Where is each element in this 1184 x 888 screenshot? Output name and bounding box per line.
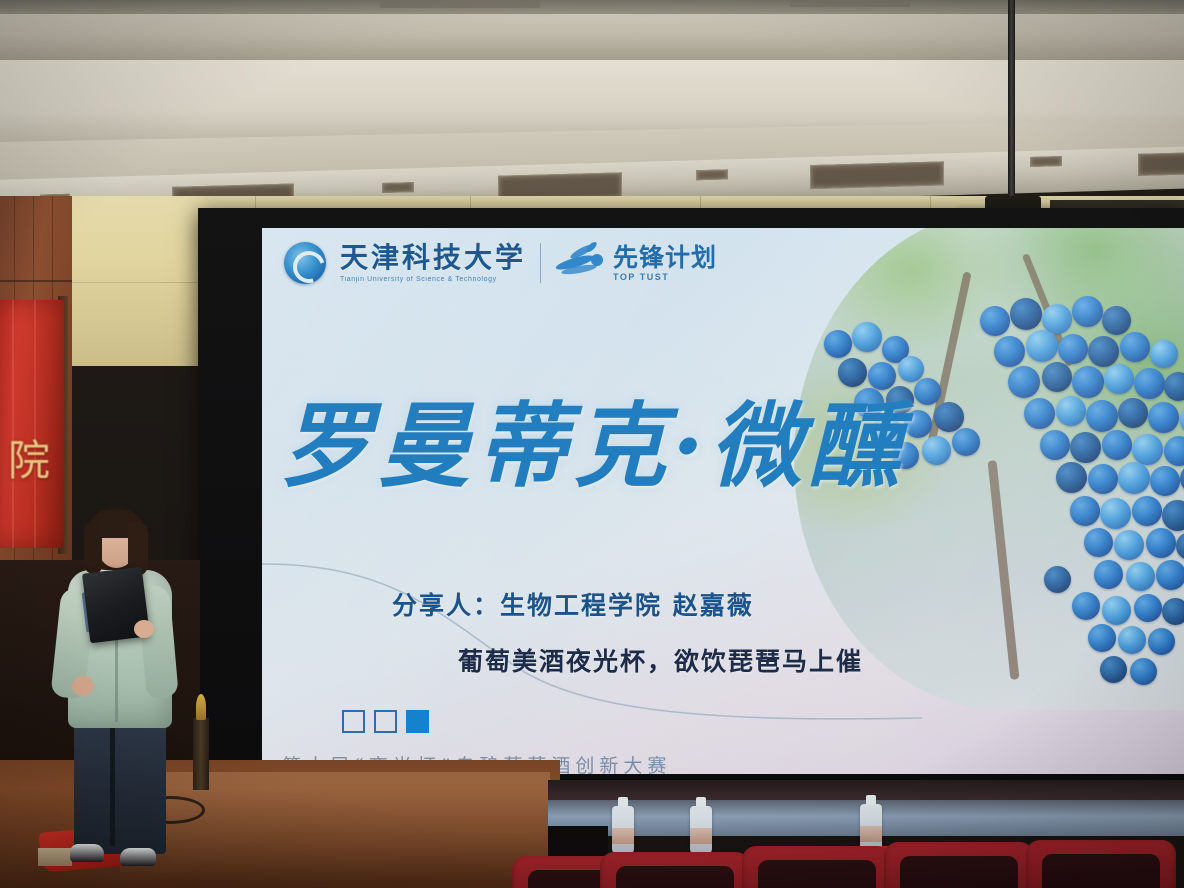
ceiling-vent (380, 0, 540, 8)
downlight (1138, 152, 1184, 176)
audience-seat (600, 852, 750, 888)
slide-header-logos: 天津科技大学 Tianjin University of Science & T… (284, 242, 717, 284)
program-logo-block: 先锋计划 TOP TUST (555, 244, 717, 282)
ceiling-shadow-strip (0, 0, 1184, 14)
university-name-cn: 天津科技大学 (340, 244, 526, 272)
ceiling-vent (790, 0, 910, 7)
program-name-en: TOP TUST (613, 273, 717, 282)
presenter-shoe-left (70, 844, 104, 862)
audience-seat (742, 846, 892, 888)
university-name-block: 天津科技大学 Tianjin University of Science & T… (340, 244, 526, 283)
banner-fold (34, 300, 36, 548)
phoenix-bird-icon (555, 244, 607, 282)
seat-inner (900, 856, 1018, 888)
wood-band (0, 280, 72, 282)
bottle-cap (866, 795, 876, 805)
audience-seat (884, 842, 1034, 888)
poem-line: 葡萄美酒夜光杯，欲饮琵琶马上催 (458, 642, 1098, 678)
bottle-cap (618, 797, 628, 807)
bottle-label (690, 828, 712, 844)
seat-inner (616, 866, 734, 888)
floor-reflection (120, 772, 550, 882)
program-name-block: 先锋计划 TOP TUST (613, 245, 717, 282)
projector-pole (1008, 0, 1015, 205)
water-bottle (612, 806, 634, 854)
red-banner (0, 300, 64, 548)
presenter-hand-left (72, 676, 94, 696)
presentation-slide: 天津科技大学 Tianjin University of Science & T… (262, 228, 1184, 774)
presenter-hair-left (84, 522, 102, 574)
bottle-label (860, 826, 882, 842)
banner-character: 院 (0, 440, 58, 482)
presenter-pants (74, 708, 166, 854)
flag-stand (193, 718, 209, 790)
page-marker-3-active (406, 710, 429, 733)
presenter-person (58, 508, 174, 868)
bottle-cap (696, 797, 706, 807)
slide-title: 罗曼蒂克·微醺 (280, 400, 980, 492)
downlight-small (382, 182, 414, 193)
presenter-leg-split (110, 714, 115, 846)
audience-seat (1026, 840, 1176, 888)
seat-inner (758, 860, 876, 888)
water-bottle (860, 804, 882, 852)
page-marker-2 (374, 710, 397, 733)
page-markers (342, 710, 429, 733)
ceiling-upper (0, 0, 1184, 62)
presenter-hand-right (134, 620, 154, 638)
bottle-label (612, 828, 634, 844)
university-name-en: Tianjin University of Science & Technolo… (340, 276, 526, 283)
tust-seal-icon (284, 242, 326, 284)
program-name-cn: 先锋计划 (613, 245, 717, 270)
page-marker-1 (342, 710, 365, 733)
downlight (810, 161, 944, 189)
logo-divider (540, 243, 541, 283)
water-bottle (690, 806, 712, 854)
auditorium-photo: 院 (0, 0, 1184, 888)
banner-fold (12, 300, 14, 548)
downlight-small (696, 169, 728, 180)
seat-inner (1042, 854, 1160, 888)
downlight-small (1030, 156, 1062, 167)
presenter-shoe-right (120, 848, 156, 866)
presenter-line: 分享人：生物工程学院 赵嘉薇 (392, 586, 1032, 622)
